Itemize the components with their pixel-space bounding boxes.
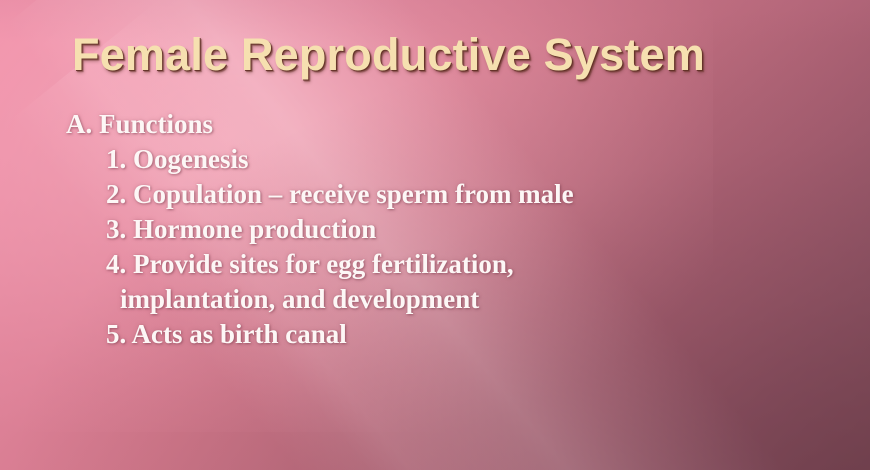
outline-item-a-functions: A. Functions	[66, 107, 856, 142]
presentation-slide: Female Reproductive System A. Functions …	[0, 0, 870, 470]
outline-item-5-birth-canal: 5. Acts as birth canal	[66, 317, 856, 352]
outline-item-3-hormone: 3. Hormone production	[66, 212, 856, 247]
outline-item-1-oogenesis: 1. Oogenesis	[66, 142, 856, 177]
outline-item-2-copulation: 2. Copulation – receive sperm from male	[66, 177, 856, 212]
outline-item-4-provide-sites: 4. Provide sites for egg fertilization,	[66, 247, 856, 282]
slide-outline-list: A. Functions 1. Oogenesis 2. Copulation …	[66, 107, 856, 352]
slide-content: Female Reproductive System A. Functions …	[0, 0, 870, 470]
outline-item-4-continuation: implantation, and development	[66, 282, 856, 317]
slide-title: Female Reproductive System	[72, 28, 832, 82]
